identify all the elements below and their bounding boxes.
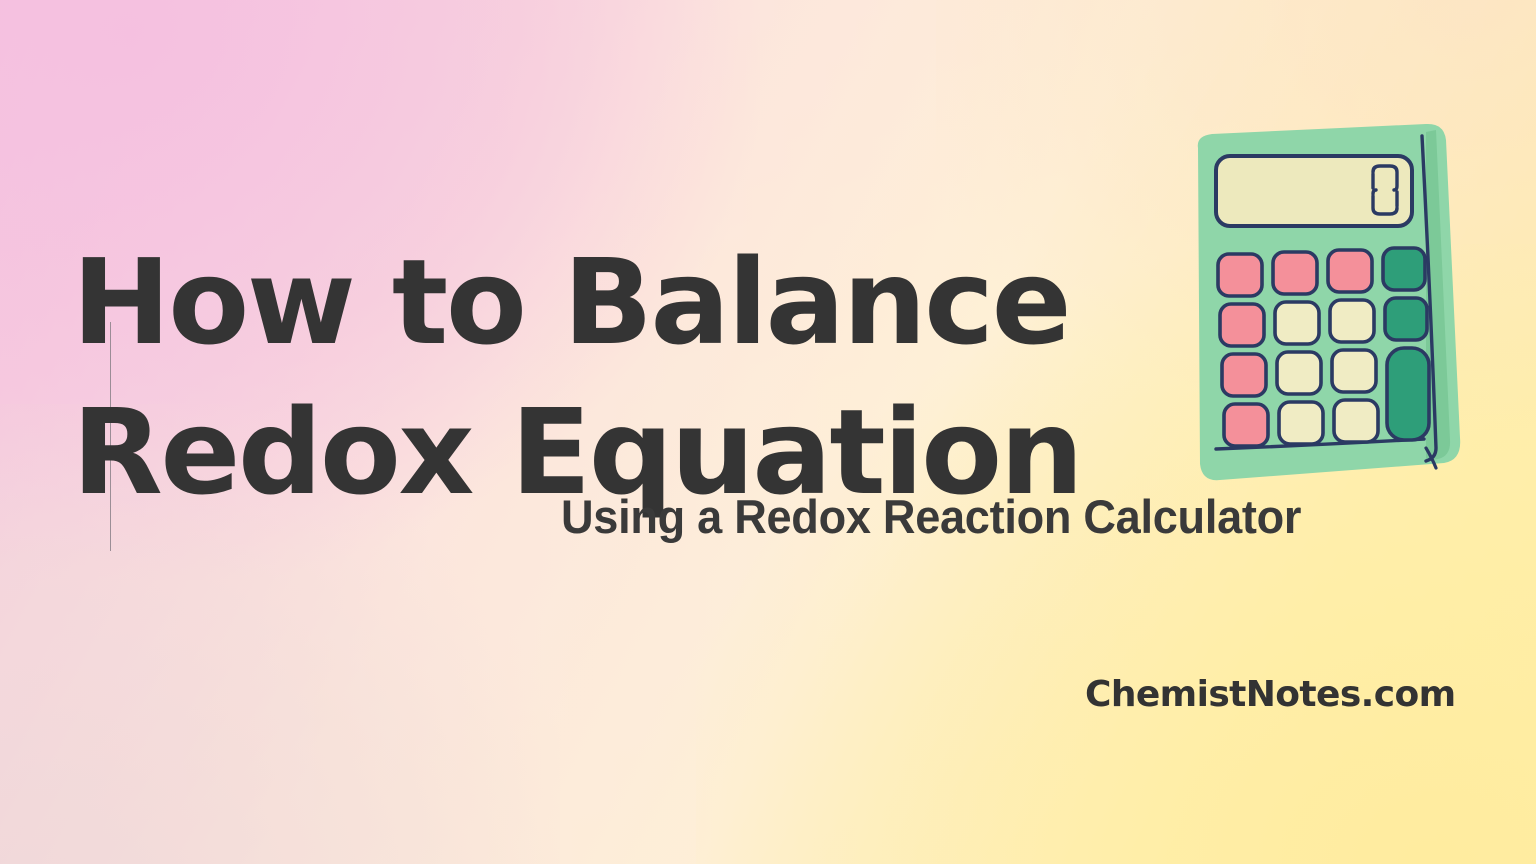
key-r2c3 [1330, 300, 1374, 342]
page-subtitle: Using a Redox Reaction Calculator [561, 487, 1301, 547]
banner-canvas: How to Balance Redox Equation Using a Re… [0, 0, 1536, 864]
key-r1c4 [1383, 248, 1425, 290]
key-r4c3 [1334, 400, 1378, 442]
key-r1c2 [1273, 252, 1317, 294]
calculator-illustration [1168, 118, 1468, 490]
page-title: How to Balance Redox Equation [72, 227, 1152, 527]
brand-watermark: ChemistNotes.com [1085, 674, 1456, 715]
key-r4c2 [1279, 402, 1323, 444]
key-r3c2 [1277, 352, 1321, 394]
key-r1c1 [1218, 254, 1262, 296]
key-r1c3 [1328, 250, 1372, 292]
key-r2c1 [1220, 304, 1264, 346]
key-r2c2 [1275, 302, 1319, 344]
key-r4c1 [1224, 404, 1268, 446]
calculator-display [1216, 156, 1412, 226]
key-enter-tall [1387, 348, 1429, 440]
key-r2c4 [1385, 298, 1427, 340]
key-r3c1 [1222, 354, 1266, 396]
key-r3c3 [1332, 350, 1376, 392]
